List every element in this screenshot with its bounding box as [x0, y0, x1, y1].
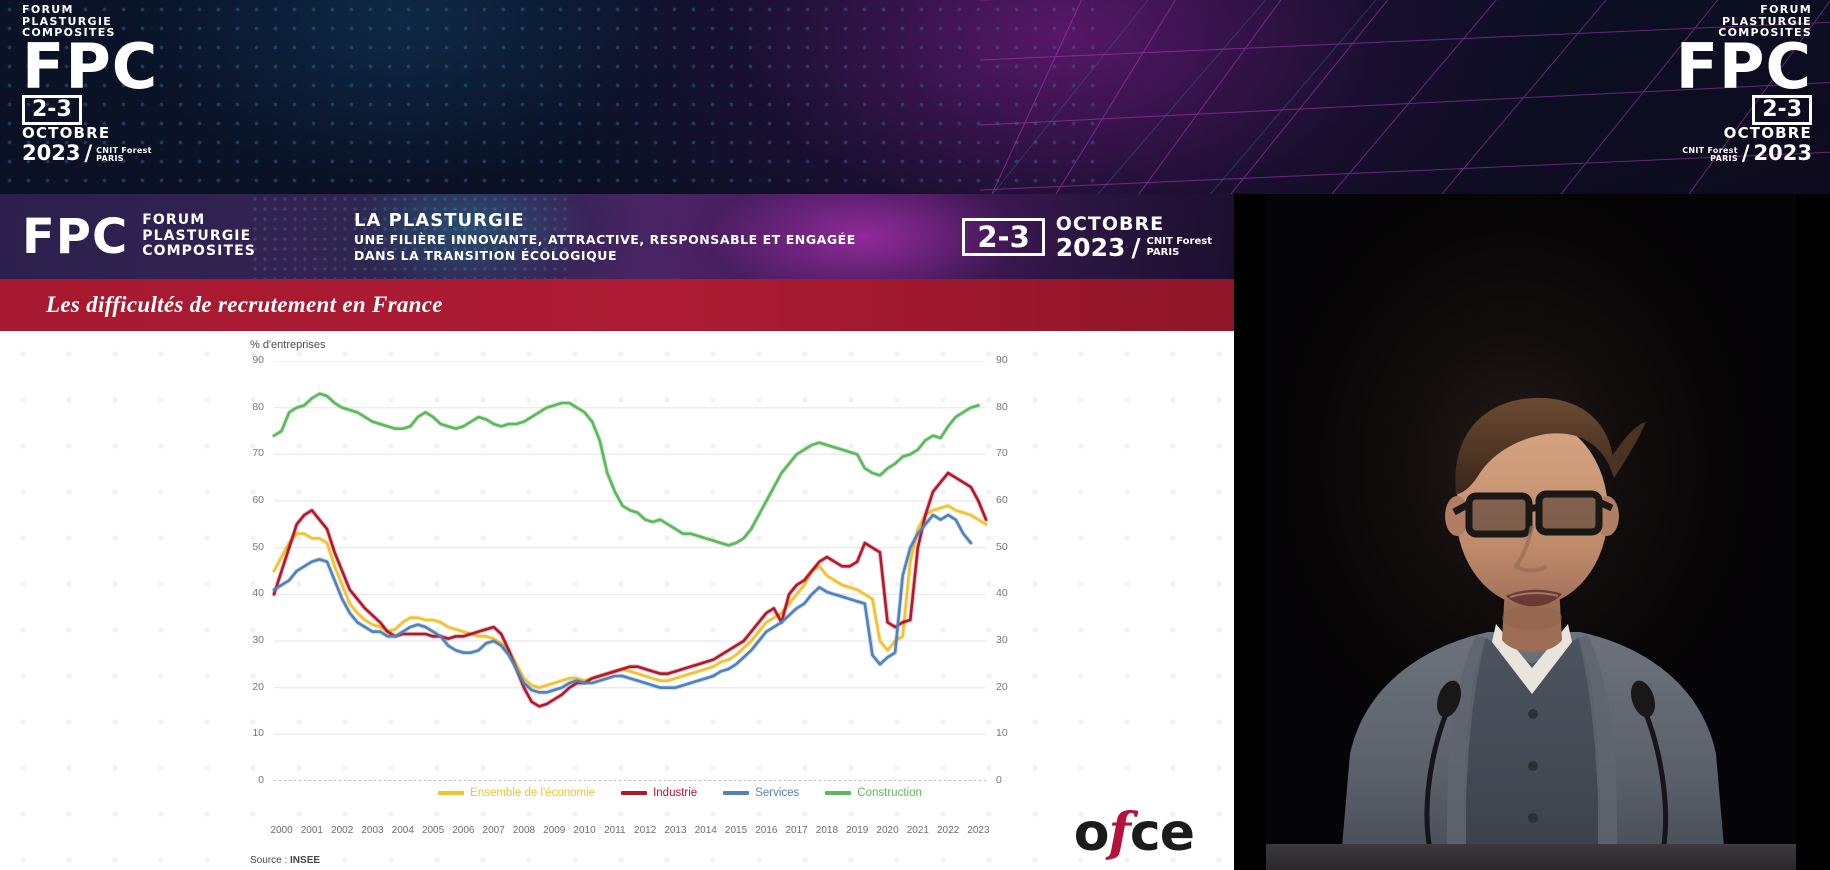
venue-line-1: CNIT Forest — [1147, 236, 1212, 247]
slide-right-edge — [1234, 194, 1250, 870]
x-tick-2003: 2003 — [361, 825, 383, 836]
venue-block: CNIT Forest PARIS — [96, 147, 152, 164]
y-tick-left-80: 80 — [238, 401, 264, 413]
x-axis-ticks: 2000200120022003200420052006200720082009… — [240, 825, 1020, 843]
slash-separator: / — [1742, 142, 1750, 164]
y-tick-left-20: 20 — [238, 681, 264, 693]
legend-item-2[interactable]: Services — [723, 787, 799, 799]
x-tick-2010: 2010 — [573, 825, 595, 836]
x-tick-2019: 2019 — [846, 825, 868, 836]
speaker-video-panel — [1250, 194, 1813, 870]
y-tick-right-80: 80 — [996, 401, 1022, 413]
video-right-letterbox — [1796, 194, 1813, 870]
forum-line-1: FORUM — [22, 4, 158, 16]
y-tick-right-30: 30 — [996, 634, 1022, 646]
x-tick-2009: 2009 — [543, 825, 565, 836]
legend-label: Industrie — [653, 787, 697, 799]
legend-label: Services — [755, 787, 799, 799]
x-tick-2008: 2008 — [513, 825, 535, 836]
legend-item-3[interactable]: Construction — [825, 787, 922, 799]
month-label: OCTOBRE — [1676, 125, 1812, 142]
forum-line-3: COMPOSITES — [142, 244, 256, 260]
slide-header-logo: FPC FORUM PLASTURGIE COMPOSITES — [0, 213, 256, 261]
y-tick-left-70: 70 — [238, 447, 264, 459]
month-label: OCTOBRE — [22, 125, 158, 142]
x-tick-2002: 2002 — [331, 825, 353, 836]
date-badge: 2-3 — [1752, 95, 1812, 125]
year-label: 2023 — [1754, 142, 1812, 164]
y-tick-left-50: 50 — [238, 541, 264, 553]
stage-front-edge — [1250, 844, 1813, 870]
fpc-acronym: FPC — [22, 39, 158, 95]
fpc-acronym: FPC — [1676, 39, 1812, 95]
speaker-figure — [1250, 194, 1813, 870]
x-tick-2023: 2023 — [967, 825, 989, 836]
x-tick-2006: 2006 — [452, 825, 474, 836]
venue-block: CNIT Forest PARIS — [1147, 236, 1212, 260]
x-tick-2018: 2018 — [816, 825, 838, 836]
tagline-line-2: UNE FILIÈRE INNOVANTE, ATTRACTIVE, RESPO… — [354, 232, 856, 248]
corner-logo-top-right: FORUM PLASTURGIE COMPOSITES FPC 2-3 OCTO… — [1676, 4, 1812, 164]
x-tick-2015: 2015 — [725, 825, 747, 836]
legend-swatch-icon — [438, 791, 464, 795]
forum-lines: FORUM PLASTURGIE COMPOSITES — [142, 213, 256, 260]
date-badge: 2-3 — [22, 95, 82, 125]
slide-title-bar: Les difficultés de recrutement en France — [0, 279, 1234, 331]
background-dot-pattern — [0, 0, 1100, 200]
y-tick-right-70: 70 — [996, 447, 1022, 459]
slash-separator: / — [84, 142, 92, 164]
x-tick-2005: 2005 — [422, 825, 444, 836]
slide-header-banner: FPC FORUM PLASTURGIE COMPOSITES LA PLAST… — [0, 194, 1234, 279]
x-tick-2007: 2007 — [483, 825, 505, 836]
legend-item-0[interactable]: Ensemble de l'économie — [438, 787, 595, 799]
chart-legend: Ensemble de l'économieIndustrieServicesC… — [360, 787, 1000, 799]
ofce-suffix: ce — [1130, 803, 1194, 863]
forum-line-2: PLASTURGIE — [142, 229, 256, 245]
y-tick-left-40: 40 — [238, 587, 264, 599]
x-tick-2004: 2004 — [392, 825, 414, 836]
slash-separator: / — [1131, 235, 1140, 260]
ofce-logo: ofce — [1074, 806, 1194, 860]
legend-label: Ensemble de l'économie — [470, 787, 595, 799]
fpc-acronym: FPC — [22, 213, 128, 261]
video-left-letterbox — [1250, 194, 1266, 870]
y-tick-right-10: 10 — [996, 727, 1022, 739]
x-tick-2016: 2016 — [755, 825, 777, 836]
date-text-block: OCTOBRE 2023 / CNIT Forest PARIS — [1056, 213, 1212, 260]
presentation-slide: FPC FORUM PLASTURGIE COMPOSITES LA PLAST… — [0, 194, 1234, 870]
y-tick-left-60: 60 — [238, 494, 264, 506]
tagline-line-3: DANS LA TRANSITION ÉCOLOGIQUE — [354, 248, 856, 264]
legend-label: Construction — [857, 787, 922, 799]
slide-body: % d'entreprises 9080706050403020100 9080… — [0, 331, 1234, 870]
ofce-accent-letter: f — [1109, 802, 1130, 863]
x-tick-2000: 2000 — [270, 825, 292, 836]
x-tick-2022: 2022 — [937, 825, 959, 836]
x-tick-2012: 2012 — [634, 825, 656, 836]
y-tick-left-30: 30 — [238, 634, 264, 646]
venue-line-2: PARIS — [1682, 155, 1738, 164]
x-tick-2020: 2020 — [876, 825, 898, 836]
y-tick-right-50: 50 — [996, 541, 1022, 553]
x-tick-2014: 2014 — [695, 825, 717, 836]
page-title: Les difficultés de recrutement en France — [0, 292, 443, 318]
y-axis-unit-label: % d'entreprises — [250, 339, 325, 351]
date-badge: 2-3 — [962, 218, 1044, 256]
x-tick-2013: 2013 — [664, 825, 686, 836]
source-value: INSEE — [290, 855, 320, 866]
year-label: 2023 — [1056, 235, 1126, 260]
forum-line-1: FORUM — [1676, 4, 1812, 16]
corner-logo-top-left: FORUM PLASTURGIE COMPOSITES FPC 2-3 OCTO… — [22, 4, 158, 164]
x-tick-2021: 2021 — [907, 825, 929, 836]
legend-swatch-icon — [621, 791, 647, 795]
x-tick-2017: 2017 — [786, 825, 808, 836]
venue-line-2: PARIS — [96, 155, 152, 164]
line-chart: % d'entreprises 9080706050403020100 9080… — [240, 339, 1020, 839]
legend-item-1[interactable]: Industrie — [621, 787, 697, 799]
legend-swatch-icon — [825, 791, 851, 795]
ofce-prefix: o — [1074, 803, 1109, 863]
x-tick-2001: 2001 — [301, 825, 323, 836]
chart-plot-area — [240, 361, 1020, 781]
tagline-line-1: LA PLASTURGIE — [354, 210, 856, 232]
x-tick-2011: 2011 — [604, 825, 626, 836]
y-tick-right-40: 40 — [996, 587, 1022, 599]
y-tick-right-90: 90 — [996, 354, 1022, 366]
y-tick-left-90: 90 — [238, 354, 264, 366]
slide-header-tagline: LA PLASTURGIE UNE FILIÈRE INNOVANTE, ATT… — [354, 210, 856, 264]
forum-line-1: FORUM — [142, 213, 256, 229]
y-tick-left-10: 10 — [238, 727, 264, 739]
chart-svg — [240, 361, 1020, 781]
y-tick-right-20: 20 — [996, 681, 1022, 693]
chart-source-note: Source : INSEE — [250, 855, 320, 866]
screen-root: FORUM PLASTURGIE COMPOSITES FPC 2-3 OCTO… — [0, 0, 1830, 870]
venue-block: CNIT Forest PARIS — [1682, 147, 1738, 164]
venue-line-2: PARIS — [1147, 247, 1212, 258]
year-label: 2023 — [22, 142, 80, 164]
right-black-strip — [1813, 194, 1830, 870]
month-label: OCTOBRE — [1056, 213, 1212, 235]
y-tick-right-0: 0 — [996, 774, 1022, 786]
y-tick-left-0: 0 — [238, 774, 264, 786]
source-prefix: Source : — [250, 855, 290, 866]
legend-swatch-icon — [723, 791, 749, 795]
slide-header-date: 2-3 OCTOBRE 2023 / CNIT Forest PARIS — [962, 213, 1212, 260]
y-tick-right-60: 60 — [996, 494, 1022, 506]
